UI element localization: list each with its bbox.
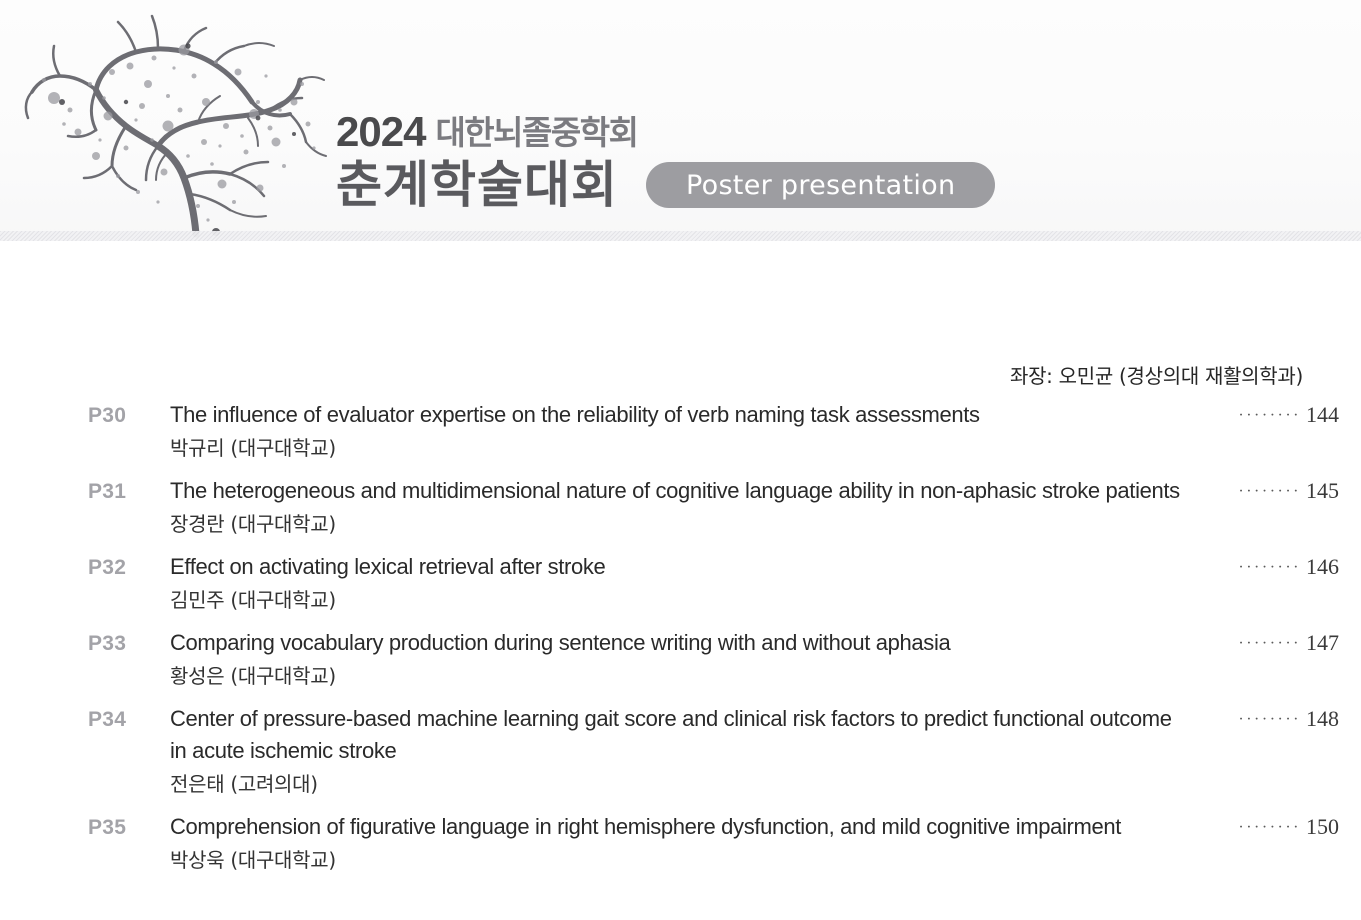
session-chair: 좌장: 오민균 (경상의대 재활의학과) <box>0 360 1361 389</box>
poster-title: Effect on activating lexical retrieval a… <box>170 551 1190 583</box>
poster-body: Center of pressure-based machine learnin… <box>170 703 1211 800</box>
organization-name: 대한뇌졸중학회 <box>435 112 637 154</box>
list-item[interactable]: P34 Center of pressure-based machine lea… <box>0 703 1361 800</box>
page-number: 147 <box>1306 630 1339 655</box>
conference-year: 2024 <box>336 110 425 154</box>
dot-leader: ········ <box>1238 559 1301 576</box>
conference-title-block: 2024 대한뇌졸중학회 춘계학술대회 Poster presentation <box>336 104 1056 214</box>
dot-leader: ········ <box>1238 407 1301 424</box>
header-divider <box>0 231 1361 241</box>
poster-page-ref: ········147 <box>1211 627 1361 660</box>
list-item[interactable]: P35 Comprehension of figurative language… <box>0 811 1361 876</box>
poster-title: Center of pressure-based machine learnin… <box>170 703 1190 767</box>
poster-author: 황성은 (대구대학교) <box>170 660 1197 692</box>
poster-title: Comprehension of figurative language in … <box>170 811 1190 843</box>
poster-list: P30 The influence of evaluator expertise… <box>0 399 1361 876</box>
list-item[interactable]: P33 Comparing vocabulary production duri… <box>0 627 1361 692</box>
poster-page-ref: ········145 <box>1211 475 1361 508</box>
poster-author: 박상욱 (대구대학교) <box>170 844 1197 876</box>
poster-author: 전은태 (고려의대) <box>170 768 1197 800</box>
poster-page-ref: ········144 <box>1211 399 1361 432</box>
poster-body: The heterogeneous and multidimensional n… <box>170 475 1211 540</box>
poster-code: P30 <box>88 399 170 432</box>
poster-body: The influence of evaluator expertise on … <box>170 399 1211 464</box>
poster-title: Comparing vocabulary production during s… <box>170 627 1190 659</box>
poster-author: 박규리 (대구대학교) <box>170 432 1197 464</box>
list-item[interactable]: P30 The influence of evaluator expertise… <box>0 399 1361 464</box>
poster-code: P34 <box>88 703 170 736</box>
poster-code: P32 <box>88 551 170 584</box>
page-header: 2024 대한뇌졸중학회 춘계학술대회 Poster presentation <box>0 0 1361 241</box>
session-content: 좌장: 오민균 (경상의대 재활의학과) P30 The influence o… <box>0 241 1361 887</box>
dot-leader: ········ <box>1238 819 1301 836</box>
poster-page-ref: ········150 <box>1211 811 1361 844</box>
page-number: 148 <box>1306 706 1339 731</box>
dot-leader: ········ <box>1238 635 1301 652</box>
brain-blossom-tree-logo <box>8 6 330 238</box>
list-item[interactable]: P31 The heterogeneous and multidimension… <box>0 475 1361 540</box>
title-line-secondary: 춘계학술대회 Poster presentation <box>336 156 1056 214</box>
poster-body: Comprehension of figurative language in … <box>170 811 1211 876</box>
poster-title: The heterogeneous and multidimensional n… <box>170 475 1190 507</box>
poster-title: The influence of evaluator expertise on … <box>170 399 1190 431</box>
list-item[interactable]: P32 Effect on activating lexical retriev… <box>0 551 1361 616</box>
poster-code: P35 <box>88 811 170 844</box>
poster-code: P31 <box>88 475 170 508</box>
conference-name: 춘계학술대회 <box>336 157 618 213</box>
page-number: 144 <box>1306 402 1339 427</box>
poster-page-ref: ········148 <box>1211 703 1361 736</box>
poster-page-ref: ········146 <box>1211 551 1361 584</box>
poster-body: Effect on activating lexical retrieval a… <box>170 551 1211 616</box>
poster-author: 장경란 (대구대학교) <box>170 508 1197 540</box>
title-line-primary: 2024 대한뇌졸중학회 <box>336 104 1056 154</box>
dot-leader: ········ <box>1238 711 1301 728</box>
poster-code: P33 <box>88 627 170 660</box>
poster-author: 김민주 (대구대학교) <box>170 584 1197 616</box>
page-number: 146 <box>1306 554 1339 579</box>
poster-body: Comparing vocabulary production during s… <box>170 627 1211 692</box>
dot-leader: ········ <box>1238 483 1301 500</box>
page-number: 150 <box>1306 814 1339 839</box>
poster-presentation-badge: Poster presentation <box>646 162 995 208</box>
page-number: 145 <box>1306 478 1339 503</box>
